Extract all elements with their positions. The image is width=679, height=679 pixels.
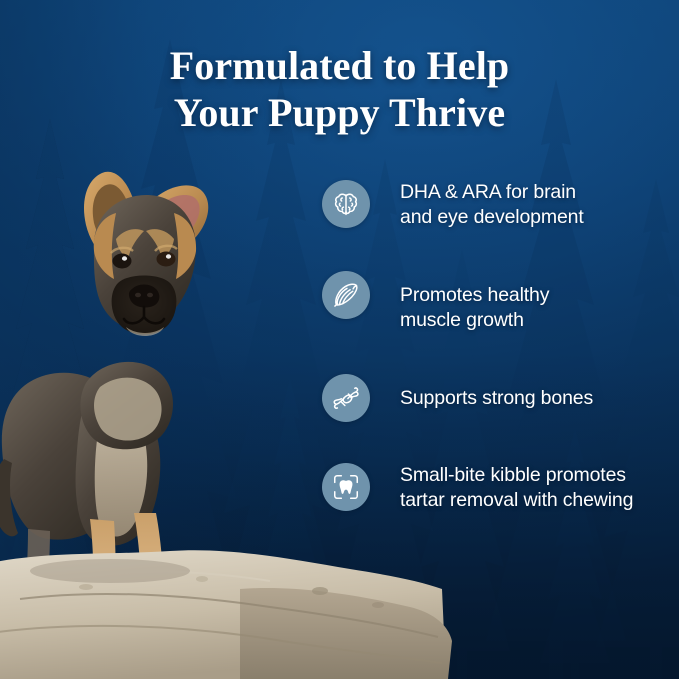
feature-item-kibble: Small-bite kibble promotes tartar remova… bbox=[322, 463, 662, 513]
tooth-scan-icon bbox=[322, 463, 370, 511]
promo-graphic: Formulated to Help Your Puppy Thrive bbox=[0, 0, 679, 679]
feature-text-line-2: and eye development bbox=[400, 206, 584, 228]
muscle-icon bbox=[322, 271, 370, 319]
feature-text: Promotes healthy muscle growth bbox=[400, 271, 549, 333]
feature-text-line-1: Promotes healthy bbox=[400, 284, 549, 306]
feature-item-muscle: Promotes healthy muscle growth bbox=[322, 271, 662, 333]
feature-text-line-1: Supports strong bones bbox=[400, 387, 593, 409]
feature-list: DHA & ARA for brain and eye development … bbox=[322, 180, 662, 513]
feature-text: Small-bite kibble promotes tartar remova… bbox=[400, 463, 633, 513]
bone-joint-icon bbox=[322, 374, 370, 422]
feature-text-line-1: DHA & ARA for brain bbox=[400, 181, 576, 203]
brain-icon bbox=[322, 180, 370, 228]
page-title: Formulated to Help Your Puppy Thrive bbox=[0, 42, 679, 136]
headline-line-1: Formulated to Help bbox=[0, 42, 679, 89]
feature-item-brain: DHA & ARA for brain and eye development bbox=[322, 180, 662, 230]
feature-text: DHA & ARA for brain and eye development bbox=[400, 180, 584, 230]
feature-text-line-2: tartar removal with chewing bbox=[400, 489, 633, 511]
feature-text-line-1: Small-bite kibble promotes bbox=[400, 464, 626, 486]
feature-text-line-2: muscle growth bbox=[400, 309, 524, 331]
headline-line-2: Your Puppy Thrive bbox=[0, 89, 679, 136]
feature-text: Supports strong bones bbox=[400, 374, 593, 411]
feature-item-bones: Supports strong bones bbox=[322, 374, 662, 422]
